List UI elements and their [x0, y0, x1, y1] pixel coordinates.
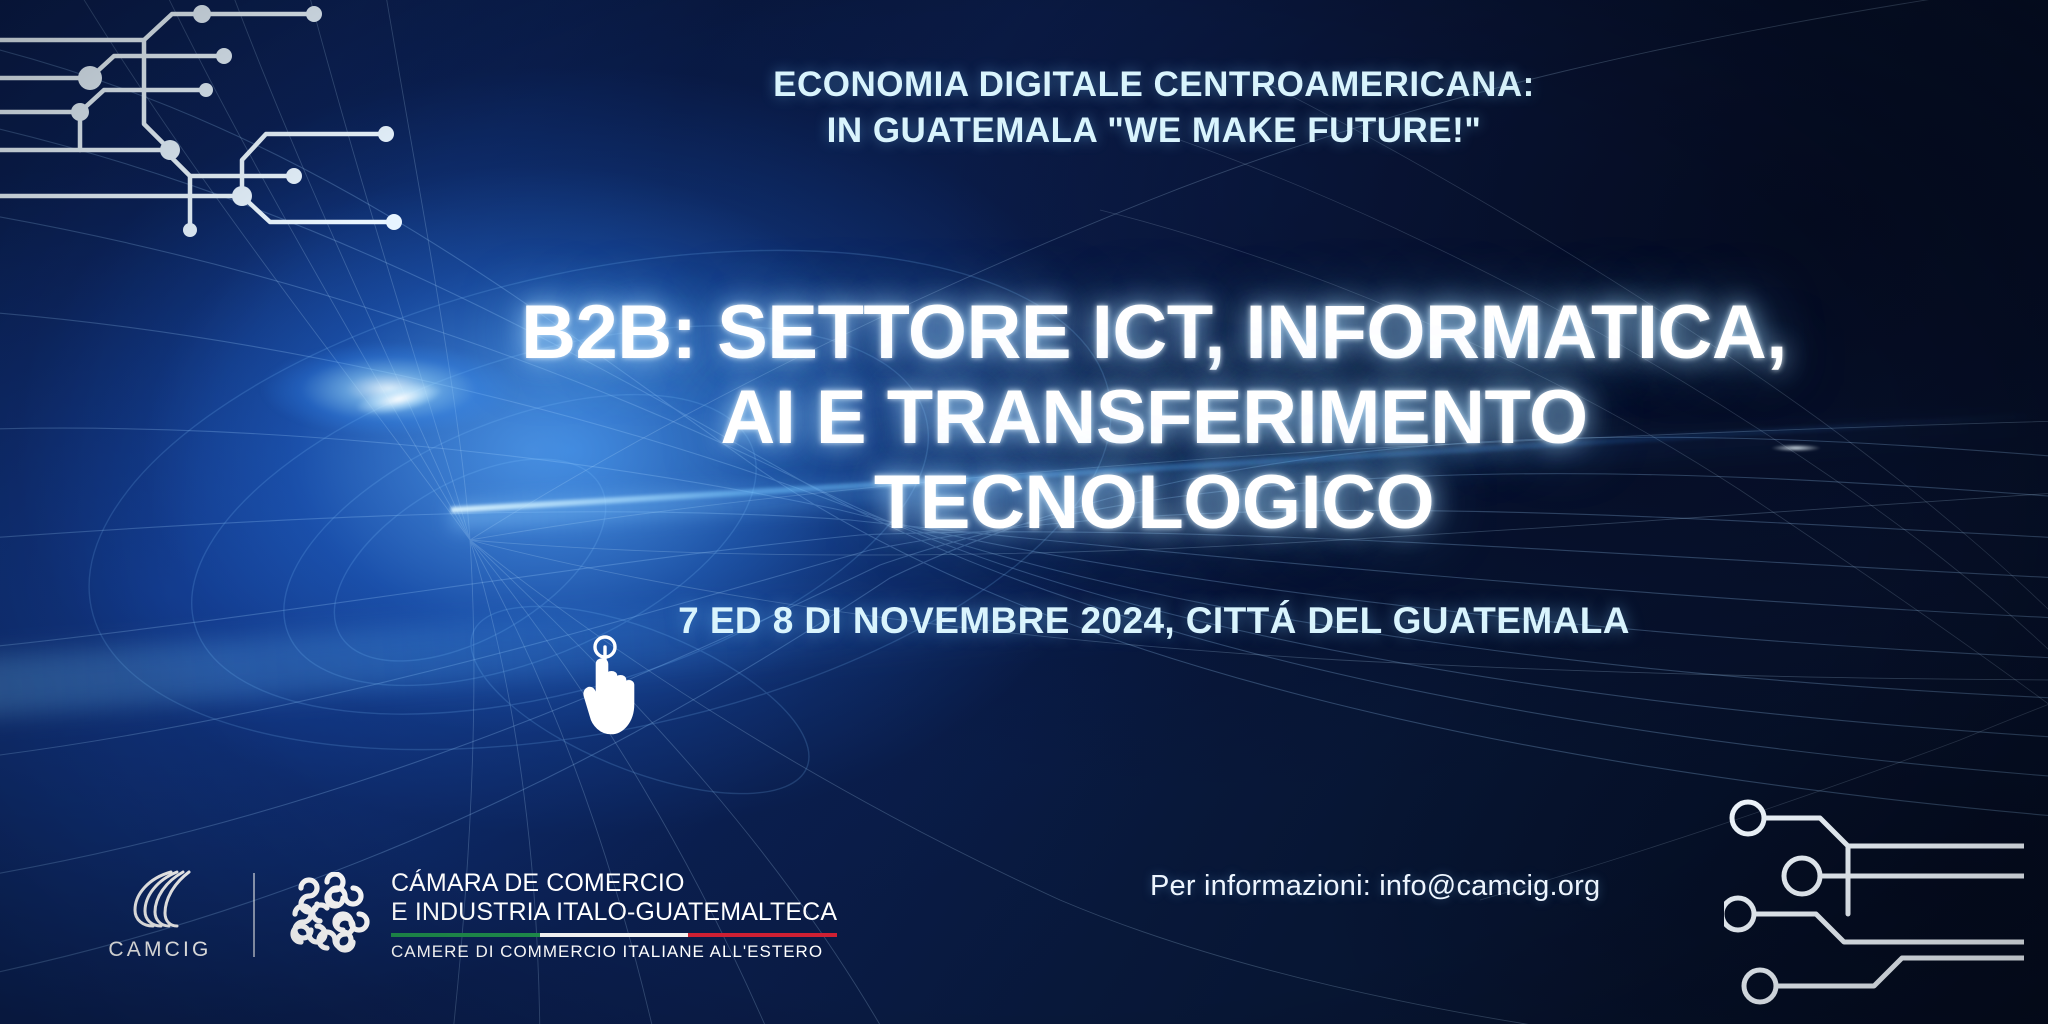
chamber-text-block: CÁMARA DE COMERCIO E INDUSTRIA ITALO-GUA… — [391, 869, 837, 962]
title-line-1: B2B: SETTORE ICT, INFORMATICA, — [330, 290, 1978, 375]
flag-stripe-green — [391, 933, 540, 937]
circuit-decoration-bottom-right — [1724, 796, 2024, 1016]
event-dateline: 7 ED 8 DI NOVEMBRE 2024, CITTÁ DEL GUATE… — [330, 600, 1978, 642]
flag-stripe-white — [540, 933, 689, 937]
tap-cursor-icon — [575, 630, 655, 740]
italian-flag-divider — [391, 933, 837, 937]
main-title-block: B2B: SETTORE ICT, INFORMATICA, AI E TRAN… — [330, 290, 1978, 545]
flag-stripe-red — [688, 933, 837, 937]
headline-block: ECONOMIA DIGITALE CENTROAMERICANA: IN GU… — [0, 62, 2048, 153]
camcig-wordmark: CAMCIG — [108, 938, 211, 962]
event-promo-banner: ECONOMIA DIGITALE CENTROAMERICANA: IN GU… — [0, 0, 2048, 1024]
headline-line-2: IN GUATEMALA "WE MAKE FUTURE!" — [260, 108, 2048, 154]
headline-line-1: ECONOMIA DIGITALE CENTROAMERICANA: — [260, 62, 2048, 108]
camcig-mark-icon — [127, 868, 193, 930]
chamber-subtitle: CAMERE DI COMMERCIO ITALIANE ALL'ESTERO — [391, 942, 837, 962]
title-line-3: TECNOLOGICO — [330, 460, 1978, 545]
camcig-logo: CAMCIG — [95, 868, 225, 962]
chamber-mark-icon — [283, 872, 371, 958]
logo-divider — [253, 873, 255, 957]
contact-info: Per informazioni: info@camcig.org — [1150, 870, 1600, 903]
title-line-2: AI E TRANSFERIMENTO — [330, 375, 1978, 460]
chamber-name-line-1: CÁMARA DE COMERCIO — [391, 869, 837, 898]
chamber-name-line-2: E INDUSTRIA ITALO-GUATEMALTECA — [391, 898, 837, 927]
logo-lockup: CAMCIG CÁMARA DE COMERCIO E I — [95, 868, 837, 962]
